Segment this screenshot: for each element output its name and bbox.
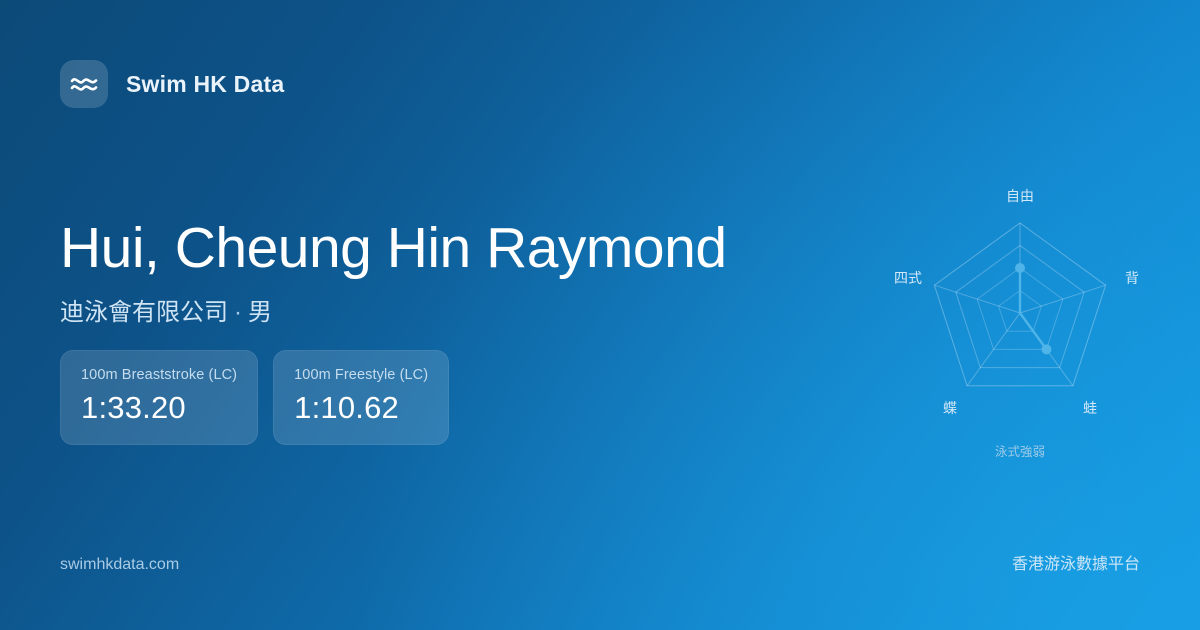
wave-icon	[60, 60, 108, 108]
stat-card-label: 100m Freestyle (LC)	[294, 367, 428, 383]
og-card: Swim HK Data Hui, Cheung Hin Raymond 迪泳會…	[0, 0, 1200, 630]
stat-card[interactable]: 100m Breaststroke (LC) 1:33.20	[60, 350, 258, 445]
athlete-meta: 迪泳會有限公司·男	[60, 292, 727, 327]
stat-card[interactable]: 100m Freestyle (LC) 1:10.62	[273, 350, 449, 445]
brand-lockup[interactable]: Swim HK Data	[60, 60, 284, 108]
radar-chart: 自由 背 蛙 蝶 四式 泳式強弱	[870, 160, 1170, 470]
radar-chart-caption: 泳式強弱	[995, 444, 1045, 459]
athlete-gender: 男	[248, 299, 272, 326]
radar-label-medley: 四式	[894, 271, 922, 287]
athlete-block: Hui, Cheung Hin Raymond 迪泳會有限公司·男	[60, 218, 727, 327]
radar-label-backstroke: 背	[1125, 271, 1139, 287]
page-title: Hui, Cheung Hin Raymond	[60, 218, 727, 278]
brand-name: Swim HK Data	[126, 71, 284, 98]
meta-separator: ·	[228, 299, 248, 326]
footer-site-url[interactable]: swimhkdata.com	[60, 556, 179, 574]
radar-label-butterfly: 蝶	[943, 401, 957, 417]
athlete-club: 迪泳會有限公司	[60, 299, 228, 326]
radar-point-breaststroke	[1042, 344, 1052, 354]
radar-point-freestyle	[1015, 263, 1025, 273]
stat-card-label: 100m Breaststroke (LC)	[81, 367, 237, 383]
radar-label-freestyle: 自由	[1006, 189, 1034, 205]
stat-card-value: 1:10.62	[294, 390, 428, 426]
radar-label-breaststroke: 蛙	[1083, 401, 1097, 417]
footer-tagline: 香港游泳數據平台	[1012, 550, 1140, 574]
stat-card-list: 100m Breaststroke (LC) 1:33.20 100m Free…	[60, 350, 449, 445]
stat-card-value: 1:33.20	[81, 390, 237, 426]
